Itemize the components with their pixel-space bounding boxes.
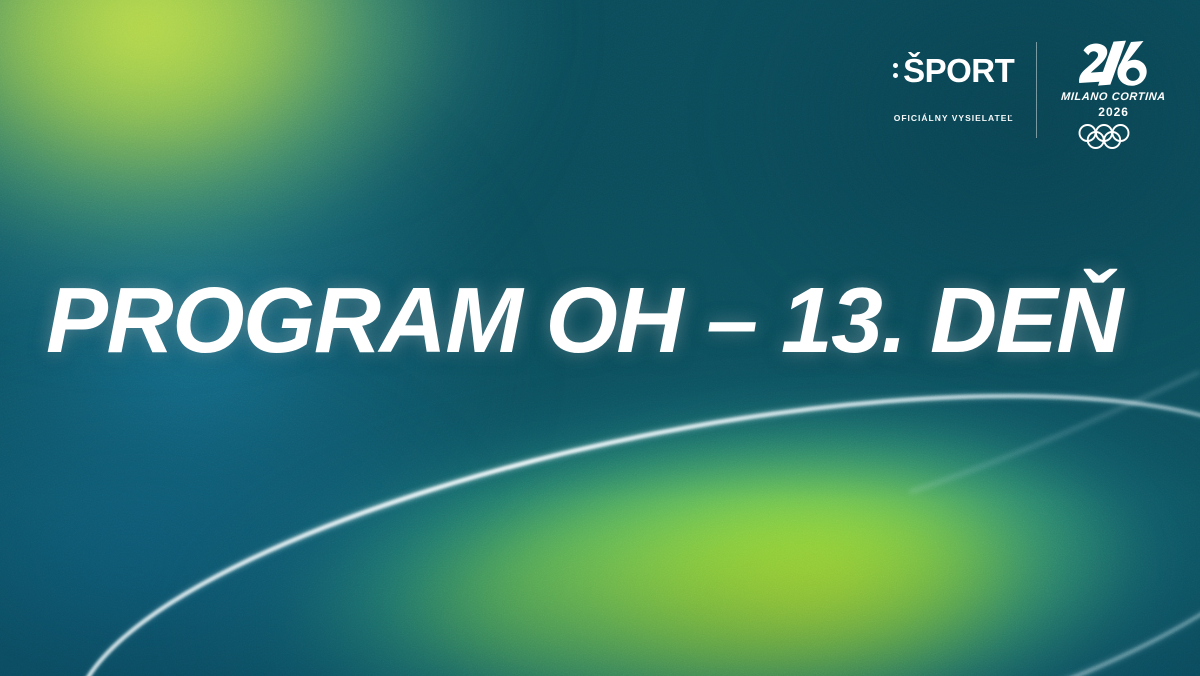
colon-mark-icon [893,63,898,79]
promo-graphic: ŠPORT OFICIÁLNY VYSIELATEĽ [0,0,1200,676]
broadcaster-brand: ŠPORT OFICIÁLNY VYSIELATEĽ [893,40,1036,123]
olympics-brand: MILANO CORTINA 2026 [1037,40,1166,149]
logo-bar: ŠPORT OFICIÁLNY VYSIELATEĽ [893,40,1166,149]
sport-wordmark: ŠPORT [903,54,1014,87]
milano-cortina-26-emblem-icon [1077,40,1151,88]
milano-cortina-year: 2026 [1098,106,1129,118]
olympic-rings-icon [1077,124,1151,149]
page-title: PROGRAM OH – 13. DEŇ [46,274,1122,367]
milano-cortina-host-city: MILANO CORTINA [1061,92,1167,103]
broadcaster-tagline: OFICIÁLNY VYSIELATEĽ [894,113,1014,123]
sport-logo: ŠPORT [893,54,1014,87]
